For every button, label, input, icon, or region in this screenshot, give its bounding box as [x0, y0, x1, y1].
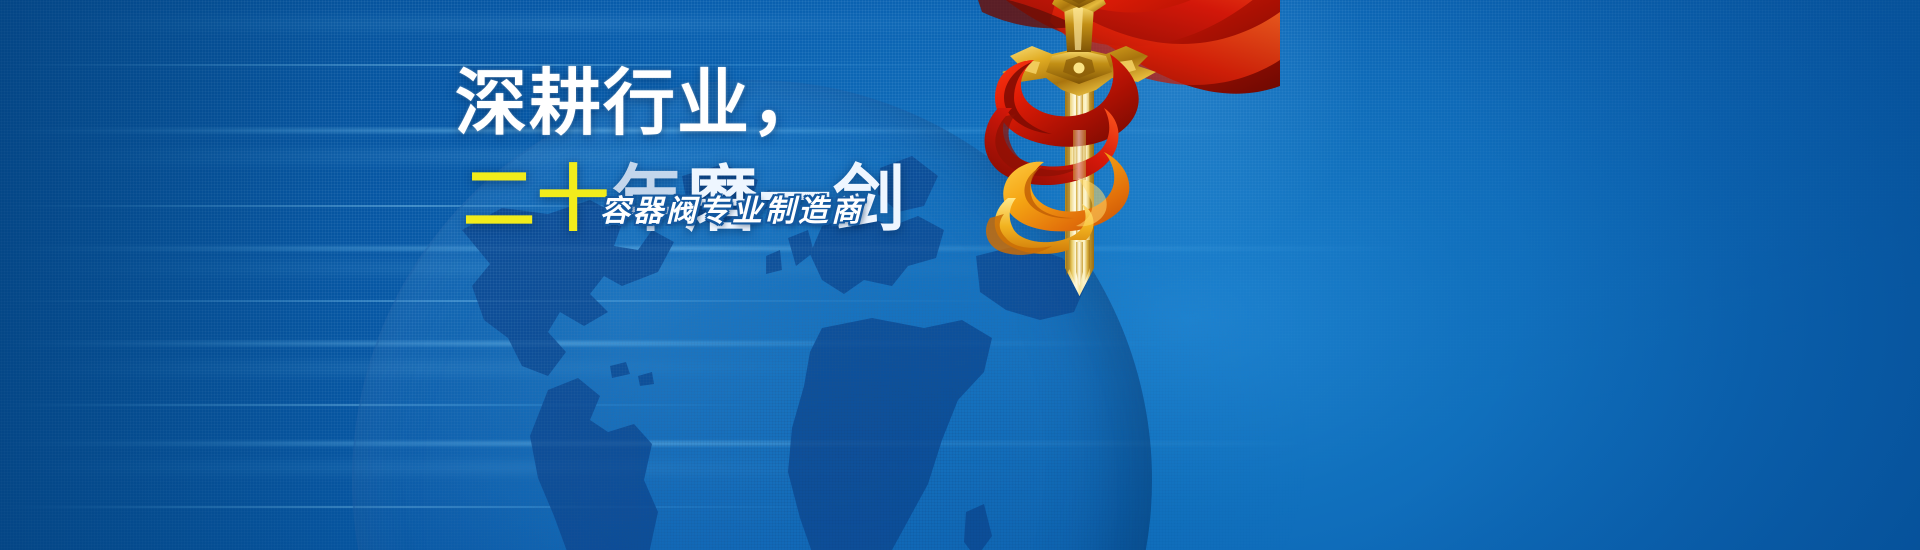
headline-highlight: 二十 [463, 157, 611, 241]
golden-sword-with-red-ribbon-icon [880, 0, 1300, 320]
hero-banner: 深耕行业， 二十年磨一剑 容器阀专业制造商 [0, 0, 1920, 550]
sword-grip [1064, 6, 1094, 52]
headline-line-1: 深耕行业， [455, 44, 825, 149]
banner-subtitle: 容器阀专业制造商 [600, 186, 864, 230]
